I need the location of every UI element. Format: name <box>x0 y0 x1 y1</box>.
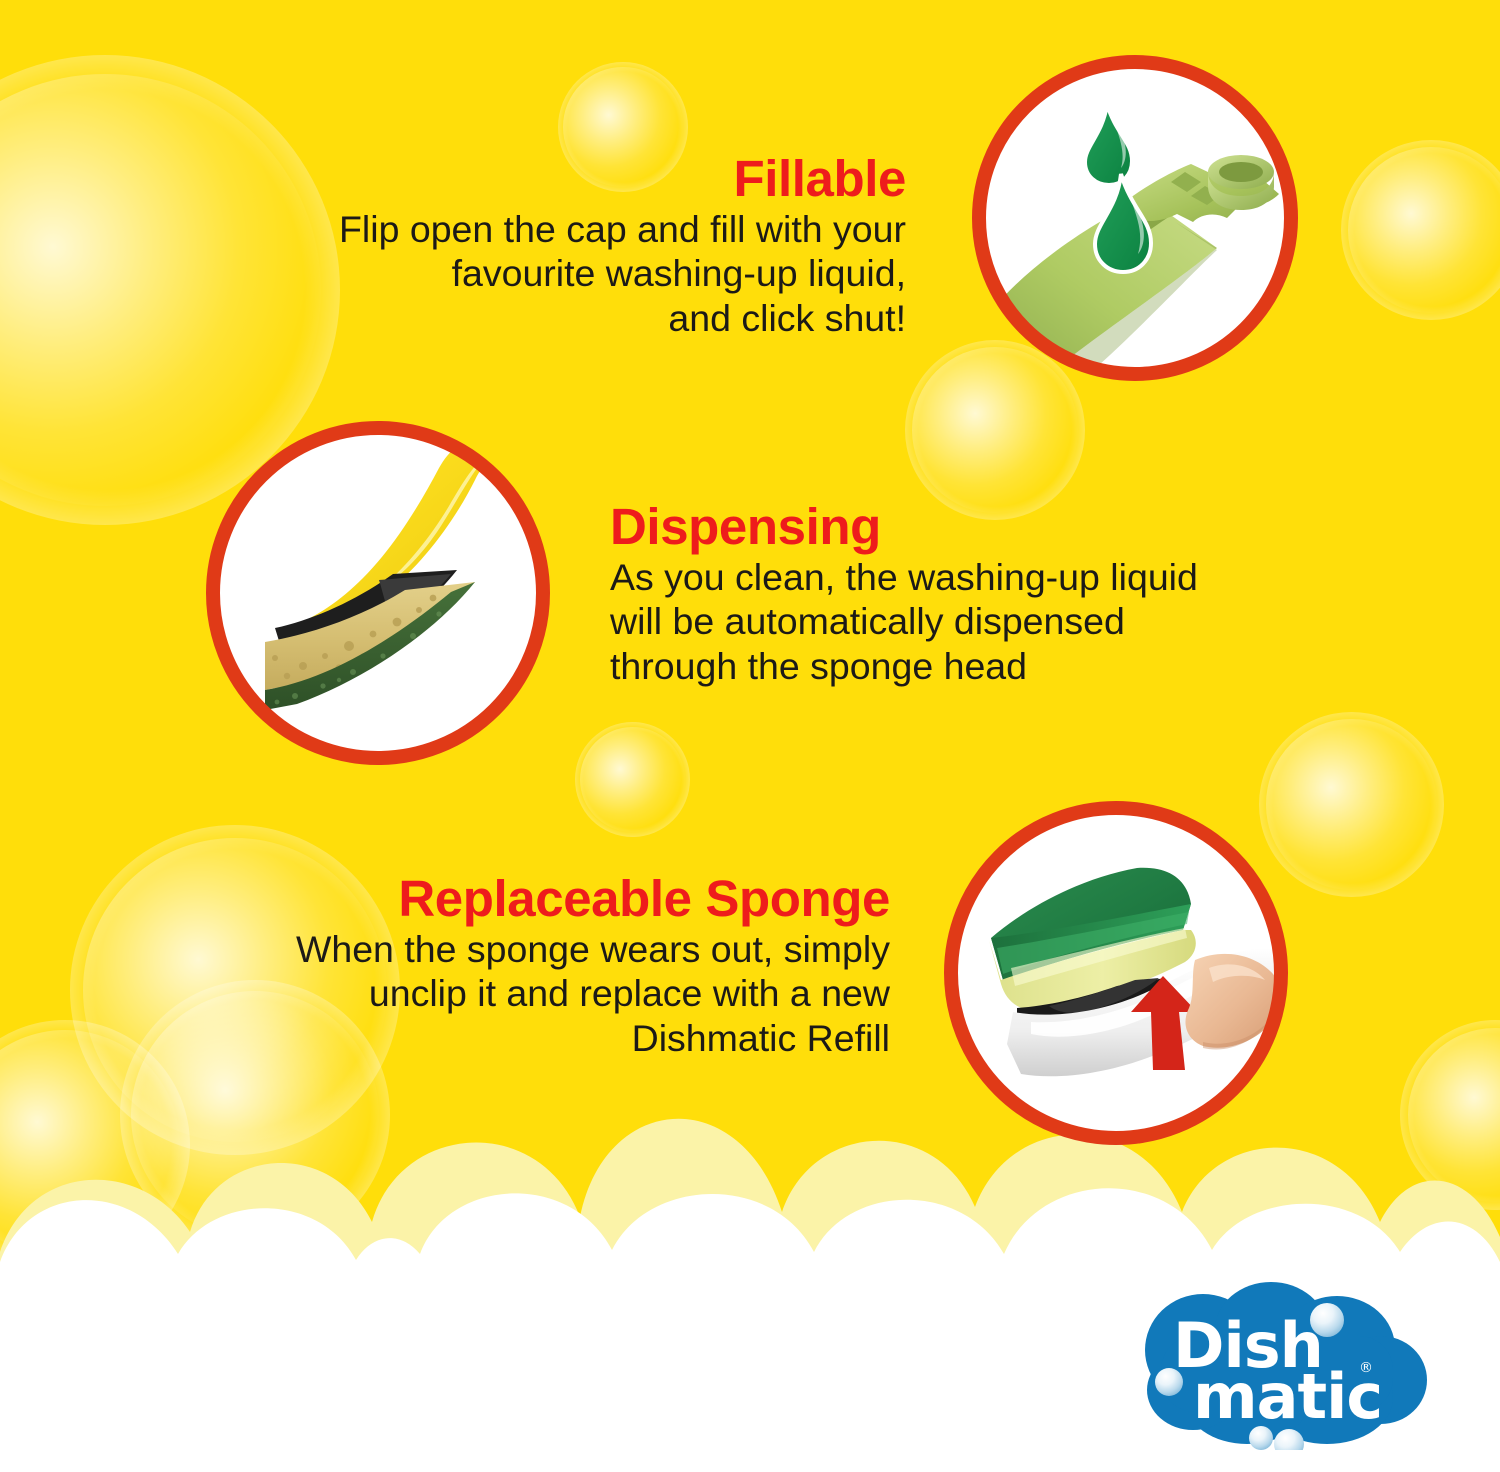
bubble-rim <box>575 722 690 837</box>
logo-registered-trademark: ® <box>1359 1360 1373 1376</box>
bubble-glow <box>1266 719 1436 889</box>
logo-bubble <box>1249 1426 1273 1450</box>
dishmatic-logo: Dish matic ® <box>1131 1272 1431 1450</box>
feature-circle-ring-replaceable-sponge <box>944 801 1288 1145</box>
feature-text-fillable: Fillable Flip open the cap and fill with… <box>200 152 906 340</box>
logo-bubble <box>1155 1368 1183 1396</box>
bubble-rim <box>905 340 1085 520</box>
feature-circle-ring-fillable <box>972 55 1298 381</box>
feature-title: Dispensing <box>610 500 1310 553</box>
feature-body-line: unclip it and replace with a new <box>180 971 890 1015</box>
logo-wordmark-matic: matic <box>1193 1360 1382 1433</box>
bubble-rim <box>1400 1020 1500 1210</box>
bubble-rim <box>1341 140 1500 320</box>
bubble-decoration <box>905 340 1085 520</box>
feature-body-line: through the sponge head <box>610 644 1310 688</box>
feature-circle-ring-dispensing <box>206 421 550 765</box>
bubble-glow <box>1348 147 1500 313</box>
bubble-rim <box>1259 712 1444 897</box>
feature-body-line: favourite washing-up liquid, <box>200 251 906 295</box>
bubble-decoration <box>1400 1020 1500 1210</box>
bubble-glow <box>580 727 686 833</box>
bubble-decoration <box>1259 712 1444 897</box>
bubble-decoration <box>0 1020 190 1270</box>
dishmatic-logo-mark: Dish matic ® <box>1131 1272 1431 1450</box>
feature-body: When the sponge wears out, simply unclip… <box>180 927 890 1060</box>
feature-body-line: Flip open the cap and fill with your <box>200 207 906 251</box>
bubble-decoration <box>1341 140 1500 320</box>
logo-bubble <box>1310 1303 1344 1337</box>
feature-body: As you clean, the washing-up liquid will… <box>610 555 1310 688</box>
feature-text-replaceable-sponge: Replaceable Sponge When the sponge wears… <box>180 872 890 1060</box>
feature-body-line: Dishmatic Refill <box>180 1016 890 1060</box>
feature-body-line: As you clean, the washing-up liquid <box>610 555 1310 599</box>
feature-body-line: When the sponge wears out, simply <box>180 927 890 971</box>
bubble-glow <box>912 347 1078 513</box>
feature-body: Flip open the cap and fill with your fav… <box>200 207 906 340</box>
feature-text-dispensing: Dispensing As you clean, the washing-up … <box>610 500 1310 688</box>
feature-title: Replaceable Sponge <box>180 872 890 925</box>
feature-body-line: and click shut! <box>200 296 906 340</box>
feature-body-line: will be automatically dispensed <box>610 599 1310 643</box>
svg-text:matic: matic <box>1193 1360 1382 1433</box>
bubble-glow <box>0 1030 180 1260</box>
bubble-decoration <box>575 722 690 837</box>
product-feature-infographic: Fillable Flip open the cap and fill with… <box>0 0 1500 1472</box>
bubble-rim <box>0 1020 190 1270</box>
feature-title: Fillable <box>200 152 906 205</box>
bubble-glow <box>1408 1028 1500 1203</box>
